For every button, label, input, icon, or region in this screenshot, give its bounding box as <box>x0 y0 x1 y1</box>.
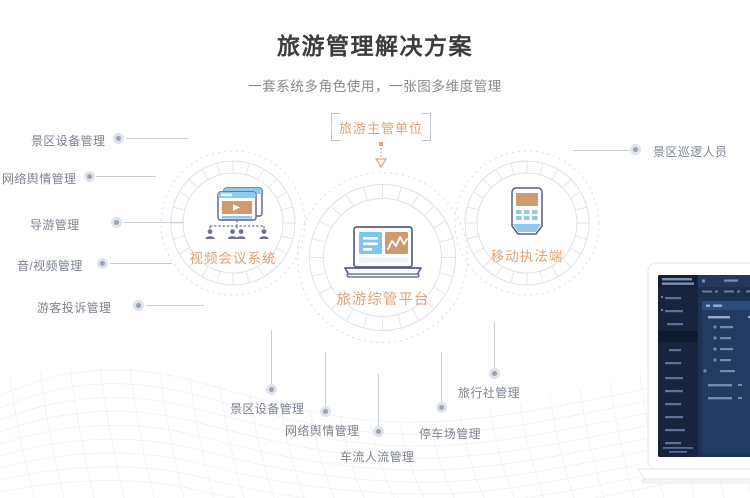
authority-box[interactable]: 旅游主管单位 <box>331 113 431 141</box>
video-conference-icon <box>153 182 313 240</box>
bottom-label-0[interactable]: 景区设备管理 <box>230 400 304 417</box>
dotted-down-arrow-icon <box>374 142 388 168</box>
node-label-mobile-enforcement: 移动执法端 <box>447 245 607 265</box>
page-subtitle: 一套系统多角色使用，一张图多维度管理 <box>0 75 750 95</box>
connector-dot[interactable] <box>320 406 331 417</box>
connector-dot[interactable] <box>373 426 384 437</box>
bottom-label-3[interactable]: 停车场管理 <box>419 425 481 442</box>
connector-dot[interactable] <box>84 171 95 182</box>
connector-dot[interactable] <box>111 217 122 228</box>
connector-dot[interactable] <box>133 300 144 311</box>
bottom-label-1[interactable]: 网络舆情管理 <box>285 422 359 439</box>
connector-dot[interactable] <box>436 402 447 413</box>
connector-line <box>494 322 495 372</box>
connector-line <box>378 374 379 430</box>
header: 旅游管理解决方案 一套系统多角色使用，一张图多维度管理 <box>0 0 750 95</box>
bottom-label-2[interactable]: 车流人流管理 <box>340 448 414 465</box>
connector-line <box>325 352 326 410</box>
mobile-device-icon <box>447 186 607 238</box>
left-label-1[interactable]: 网络舆情管理 <box>2 170 76 187</box>
right-label-0[interactable]: 景区巡逻人员 <box>653 143 727 160</box>
connector-line <box>146 305 204 306</box>
connector-dot[interactable] <box>489 368 500 379</box>
left-label-3[interactable]: 音/视频管理 <box>17 257 83 274</box>
page-title: 旅游管理解决方案 <box>0 27 750 61</box>
connector-dot[interactable] <box>113 133 124 144</box>
node-label-tourism-platform: 旅游综管平台 <box>303 288 463 309</box>
infographic-canvas: 旅游管理解决方案 一套系统多角色使用，一张图多维度管理 <box>0 0 750 498</box>
connector-dot[interactable] <box>266 384 277 395</box>
node-video-conference[interactable]: 视频会议系统 <box>153 182 313 267</box>
connector-line <box>441 352 442 406</box>
tourism-dashboard-screenshot[interactable] <box>636 253 750 498</box>
connector-line <box>96 176 156 177</box>
bottom-label-4[interactable]: 旅行社管理 <box>458 384 520 401</box>
node-mobile-enforcement[interactable]: 移动执法端 <box>447 186 607 265</box>
left-label-4[interactable]: 游客投诉管理 <box>37 299 111 316</box>
node-tourism-platform[interactable]: 旅游综管平台 <box>303 225 463 309</box>
connector-line <box>271 330 272 388</box>
left-label-0[interactable]: 景区设备管理 <box>31 132 105 149</box>
connector-line <box>126 138 188 139</box>
connector-dot[interactable] <box>630 144 641 155</box>
connector-dot[interactable] <box>97 258 108 269</box>
laptop-dashboard-icon <box>303 225 463 281</box>
authority-label: 旅游主管单位 <box>331 113 431 141</box>
left-label-2[interactable]: 导游管理 <box>30 216 80 233</box>
node-label-video-conference: 视频会议系统 <box>153 247 313 267</box>
